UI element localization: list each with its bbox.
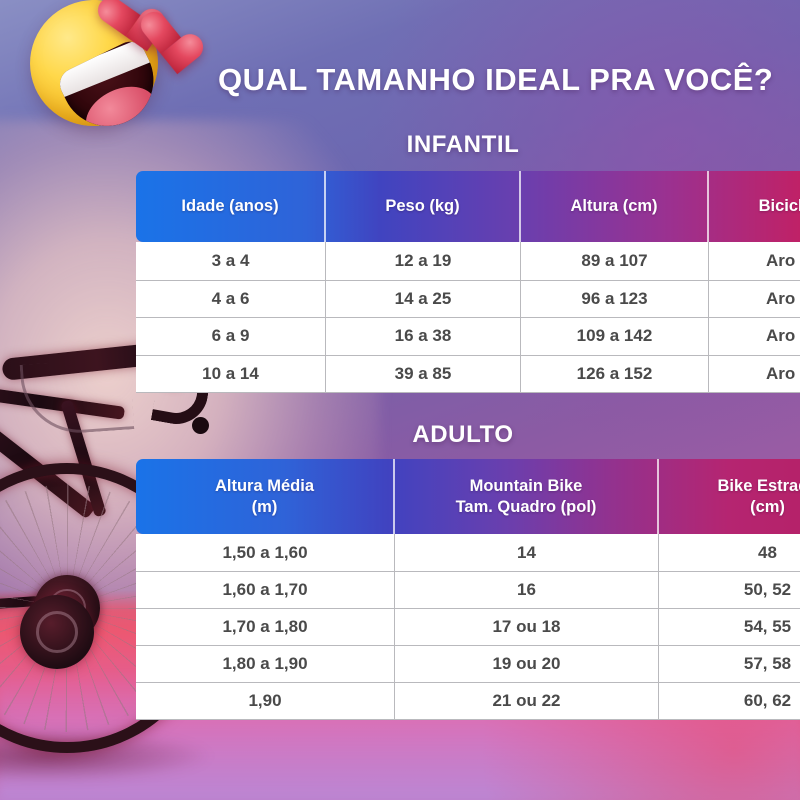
cell-bicicleta: Aro 24 — [709, 356, 800, 393]
cell-peso: 16 a 38 — [326, 318, 521, 355]
column-header-line: Altura Média — [215, 476, 314, 496]
column-header-altura-media: Altura Média (m) — [136, 459, 395, 534]
table-body: 3 a 4 12 a 19 89 a 107 Aro 12 4 a 6 14 a… — [136, 242, 800, 393]
section-title-infantil: INFANTIL — [63, 131, 800, 159]
column-header-line: (m) — [215, 497, 314, 517]
cell-peso: 39 a 85 — [326, 356, 521, 393]
cell-mountain-bike: 19 ou 20 — [395, 646, 659, 682]
column-header-line: Tam. Quadro (pol) — [456, 497, 597, 517]
cell-altura-media: 1,90 — [136, 683, 395, 719]
column-header-bicicleta: Bicicleta — [709, 171, 800, 242]
cell-altura: 89 a 107 — [521, 242, 709, 280]
table-row: 1,60 a 1,70 16 50, 52 — [136, 571, 800, 608]
table-adulto: Altura Média (m) Mountain Bike Tam. Quad… — [136, 459, 800, 720]
cell-mountain-bike: 14 — [395, 534, 659, 571]
cell-bike-estrada: 48 — [659, 534, 800, 571]
cell-altura: 126 a 152 — [521, 356, 709, 393]
page-title: QUAL TAMANHO IDEAL PRA VOCÊ? — [218, 62, 773, 98]
table-body: 1,50 a 1,60 14 48 1,60 a 1,70 16 50, 52 … — [136, 534, 800, 720]
table-row: 1,80 a 1,90 19 ou 20 57, 58 — [136, 645, 800, 682]
cell-idade: 4 a 6 — [136, 281, 326, 318]
cell-altura-media: 1,60 a 1,70 — [136, 572, 395, 608]
column-header-peso: Peso (kg) — [326, 171, 521, 242]
cell-mountain-bike: 17 ou 18 — [395, 609, 659, 645]
cell-bike-estrada: 57, 58 — [659, 646, 800, 682]
cell-bicicleta: Aro 12 — [709, 242, 800, 280]
cell-altura: 109 a 142 — [521, 318, 709, 355]
table-header-row: Idade (anos) Peso (kg) Altura (cm) Bicic… — [136, 171, 800, 242]
cell-idade: 3 a 4 — [136, 242, 326, 280]
table-row: 1,70 a 1,80 17 ou 18 54, 55 — [136, 608, 800, 645]
table-row: 4 a 6 14 a 25 96 a 123 Aro 16 — [136, 280, 800, 318]
table-row: 6 a 9 16 a 38 109 a 142 Aro 20 — [136, 317, 800, 355]
cell-bicicleta: Aro 16 — [709, 281, 800, 318]
infographic-content: QUAL TAMANHO IDEAL PRA VOCÊ? INFANTIL Id… — [0, 0, 800, 800]
cell-bike-estrada: 60, 62 — [659, 683, 800, 719]
column-header-idade: Idade (anos) — [136, 171, 326, 242]
cell-altura-media: 1,50 a 1,60 — [136, 534, 395, 571]
cell-mountain-bike: 21 ou 22 — [395, 683, 659, 719]
section-title-adulto: ADULTO — [63, 421, 800, 449]
cell-altura-media: 1,70 a 1,80 — [136, 609, 395, 645]
table-row: 1,50 a 1,60 14 48 — [136, 534, 800, 571]
table-row: 3 a 4 12 a 19 89 a 107 Aro 12 — [136, 242, 800, 280]
column-header-line: Mountain Bike — [456, 476, 597, 496]
column-header-altura: Altura (cm) — [521, 171, 709, 242]
cell-bike-estrada: 54, 55 — [659, 609, 800, 645]
column-header-line: Bike Estrada — [718, 476, 800, 496]
column-header-bike-estrada: Bike Estrada (cm) — [659, 459, 800, 534]
cell-bicicleta: Aro 20 — [709, 318, 800, 355]
cell-peso: 12 a 19 — [326, 242, 521, 280]
cell-peso: 14 a 25 — [326, 281, 521, 318]
column-header-line: (cm) — [718, 497, 800, 517]
cell-mountain-bike: 16 — [395, 572, 659, 608]
table-row: 1,90 21 ou 22 60, 62 — [136, 682, 800, 719]
cell-altura: 96 a 123 — [521, 281, 709, 318]
table-header-row: Altura Média (m) Mountain Bike Tam. Quad… — [136, 459, 800, 534]
table-row: 10 a 14 39 a 85 126 a 152 Aro 24 — [136, 355, 800, 393]
cell-idade: 10 a 14 — [136, 356, 326, 393]
cell-bike-estrada: 50, 52 — [659, 572, 800, 608]
table-infantil: Idade (anos) Peso (kg) Altura (cm) Bicic… — [136, 171, 800, 393]
column-header-mountain-bike: Mountain Bike Tam. Quadro (pol) — [395, 459, 659, 534]
cell-altura-media: 1,80 a 1,90 — [136, 646, 395, 682]
cell-idade: 6 a 9 — [136, 318, 326, 355]
